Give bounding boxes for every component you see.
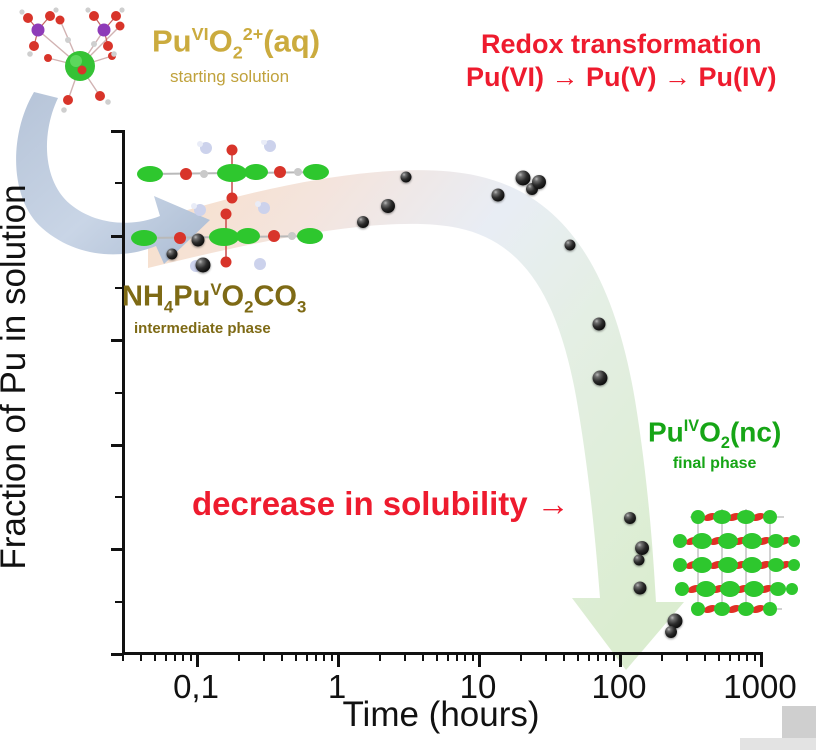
data-points-layer	[0, 0, 816, 750]
data-point	[624, 512, 636, 524]
data-point	[192, 233, 205, 246]
label-starting-species: PuVIO22+(aq) starting solution	[152, 25, 320, 87]
data-point	[167, 249, 178, 260]
data-point	[565, 240, 576, 251]
redox-line-1: Redox transformation	[466, 28, 777, 61]
starting-species-formula: PuVIO22+(aq)	[152, 25, 320, 62]
data-point	[634, 581, 647, 594]
label-final-species: PuIVO2(nc) final phase	[648, 418, 781, 473]
final-species-caption: final phase	[648, 455, 781, 473]
data-point	[635, 541, 649, 555]
data-point	[491, 189, 504, 202]
data-point	[401, 172, 412, 183]
label-redox-transformation: Redox transformation Pu(VI) → Pu(V) → Pu…	[466, 28, 777, 94]
data-point	[665, 626, 677, 638]
scrollbar-corner-artifact[interactable]	[782, 706, 816, 742]
data-point	[532, 175, 546, 189]
data-point	[357, 216, 369, 228]
scrollbar-track-artifact[interactable]	[740, 738, 816, 750]
final-species-formula: PuIVO2(nc)	[648, 418, 781, 451]
data-point	[592, 317, 605, 330]
figure-root: 0,00,20,40,60,81,0 0,11101001000 Fractio…	[0, 0, 816, 750]
data-point	[195, 257, 210, 272]
label-decrease-in-solubility: decrease in solubility →	[192, 485, 570, 523]
data-point	[634, 554, 645, 565]
data-point	[592, 371, 607, 386]
intermediate-species-formula: NH4PuVO2CO3	[122, 282, 306, 316]
redox-line-2: Pu(VI) → Pu(V) → Pu(IV)	[466, 61, 777, 94]
data-point	[381, 199, 395, 213]
starting-species-caption: starting solution	[170, 67, 320, 87]
intermediate-species-caption: intermediate phase	[134, 320, 306, 337]
label-intermediate-species: NH4PuVO2CO3 intermediate phase	[122, 282, 306, 337]
